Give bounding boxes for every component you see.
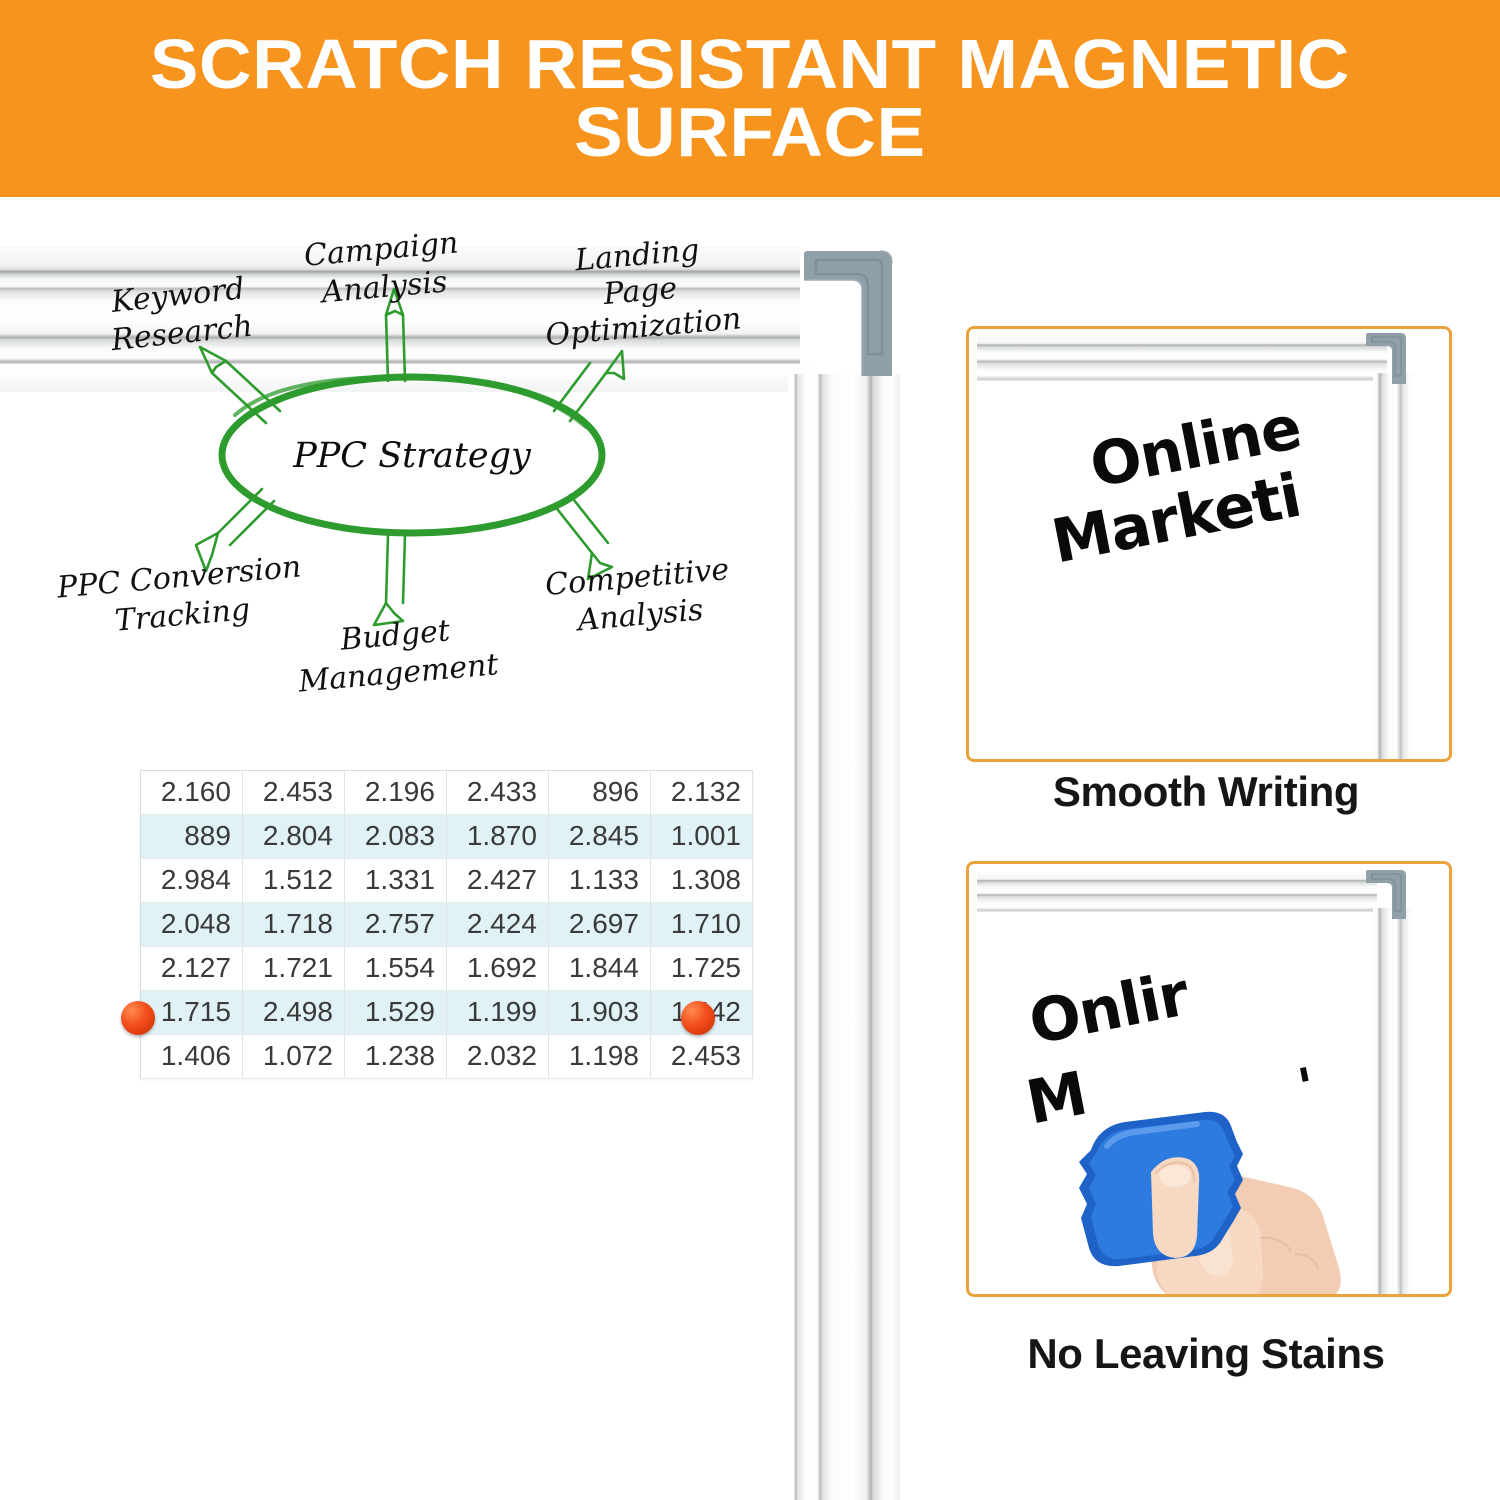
panel-top-frame-top — [977, 335, 1387, 381]
table-cell: 1.844 — [548, 947, 650, 991]
table-cell: 1.710 — [650, 903, 752, 947]
table-row: 8892.8042.0831.8702.8451.001 — [141, 815, 753, 859]
svg-text:Page: Page — [601, 271, 678, 312]
panel-top-frame-right — [1373, 373, 1415, 759]
caption-no-leaving-stains: No Leaving Stains — [966, 1330, 1446, 1378]
diagram-node-keyword-research: Keyword Research — [105, 271, 255, 359]
table-cell: 2.984 — [141, 859, 242, 903]
table-cell: 2.196 — [344, 771, 446, 815]
whiteboard-frame-right — [788, 374, 900, 1500]
data-table: 2.1602.4532.1962.4338962.1328892.8042.08… — [141, 771, 753, 1079]
table-cell: 2.032 — [446, 1035, 548, 1079]
svg-text:Management: Management — [296, 647, 501, 699]
svg-text:Optimization: Optimization — [544, 301, 743, 353]
table-row: 2.1271.7211.5541.6921.8441.725 — [141, 947, 753, 991]
header-banner: SCRATCH RESISTANT MAGNETIC SURFACE — [0, 0, 1500, 197]
table-cell: 889 — [141, 815, 242, 859]
table-cell: 1.406 — [141, 1035, 242, 1079]
caption-smooth-writing: Smooth Writing — [966, 768, 1446, 816]
panel-top-inner: Online Marketi — [969, 329, 1449, 759]
data-table-sheet: 2.1602.4532.1962.4338962.1328892.8042.08… — [140, 770, 753, 1079]
svg-text:Budget: Budget — [338, 613, 452, 658]
table-cell: 1.554 — [344, 947, 446, 991]
svg-text:Tracking: Tracking — [114, 592, 252, 639]
table-cell: 2.427 — [446, 859, 548, 903]
table-cell: 1.718 — [242, 903, 344, 947]
product-feature-image: SCRATCH RESISTANT MAGNETIC SURFACE — [0, 0, 1500, 1500]
diagram-node-campaign-analysis: Campaign Analysis — [303, 225, 463, 311]
table-cell: 2.498 — [242, 991, 344, 1035]
table-cell: 1.072 — [242, 1035, 344, 1079]
table-cell: 2.424 — [446, 903, 548, 947]
panel-top-handwriting: Online Marketi — [1085, 394, 1319, 566]
table-cell: 1.903 — [548, 991, 650, 1035]
table-cell: 2.804 — [242, 815, 344, 859]
banner-title-line2: SURFACE — [150, 99, 1350, 166]
table-cell: 1.308 — [650, 859, 752, 903]
table-cell: 1.529 — [344, 991, 446, 1035]
diagram-node-landing-page-optimization: Landing Page Optimization — [538, 230, 743, 354]
table-cell: 2.757 — [344, 903, 446, 947]
table-row: 1.7152.4981.5291.1991.9031.442 — [141, 991, 753, 1035]
data-table-body: 2.1602.4532.1962.4338962.1328892.8042.08… — [141, 771, 753, 1079]
table-cell: 1.198 — [548, 1035, 650, 1079]
table-cell: 1.870 — [446, 815, 548, 859]
table-cell: 2.127 — [141, 947, 242, 991]
diagram-node-budget-management: Budget Management — [293, 609, 501, 699]
table-cell: 1.331 — [344, 859, 446, 903]
table-cell: 1.715 — [141, 991, 242, 1035]
table-cell: 2.433 — [446, 771, 548, 815]
table-cell: 1.133 — [548, 859, 650, 903]
table-cell: 2.453 — [242, 771, 344, 815]
magnet-right-icon — [681, 1001, 715, 1035]
table-cell: 2.048 — [141, 903, 242, 947]
table-cell: 1.721 — [242, 947, 344, 991]
table-row: 2.1602.4532.1962.4338962.132 — [141, 771, 753, 815]
table-cell: 1.199 — [446, 991, 548, 1035]
table-row: 2.9841.5121.3312.4271.1331.308 — [141, 859, 753, 903]
table-cell: 2.160 — [141, 771, 242, 815]
panel-bottom-inner: Onlir M ꞌ — [969, 864, 1449, 1294]
magnet-left-icon — [121, 1001, 155, 1035]
diagram-node-competitive-analysis: Competitive Analysis — [544, 552, 734, 641]
table-cell: 2.845 — [548, 815, 650, 859]
svg-text:Analysis: Analysis — [317, 264, 448, 310]
table-cell: 1.692 — [446, 947, 548, 991]
svg-text:Analysis: Analysis — [573, 592, 704, 638]
arrow-to-budget-management — [374, 535, 405, 625]
panel-bottom-corner-bracket-icon — [1365, 870, 1407, 925]
table-cell: 1.001 — [650, 815, 752, 859]
svg-text:Competitive: Competitive — [544, 552, 731, 603]
ppc-strategy-diagram: PPC Strategy Keyword Research Campaign A… — [30, 215, 790, 705]
table-row: 1.4061.0721.2382.0321.1982.453 — [141, 1035, 753, 1079]
svg-text:Landing: Landing — [573, 233, 701, 279]
feature-panel-smooth-writing: Online Marketi — [966, 326, 1452, 762]
hand-with-eraser-illustration — [1047, 1076, 1407, 1294]
panel-bottom-frame-top — [977, 872, 1377, 912]
table-row: 2.0481.7182.7572.4242.6971.710 — [141, 903, 753, 947]
diagram-node-ppc-conversion-tracking: PPC Conversion Tracking — [55, 549, 306, 643]
table-cell: 1.238 — [344, 1035, 446, 1079]
table-cell: 1.512 — [242, 859, 344, 903]
table-cell: 2.132 — [650, 771, 752, 815]
table-cell: 2.453 — [650, 1035, 752, 1079]
feature-panel-no-leaving-stains: Onlir M ꞌ — [966, 861, 1452, 1297]
table-cell: 2.083 — [344, 815, 446, 859]
frame-corner-bracket-icon — [802, 250, 894, 378]
banner-title: SCRATCH RESISTANT MAGNETIC SURFACE — [108, 31, 1391, 165]
table-cell: 1.725 — [650, 947, 752, 991]
diagram-center-label: PPC Strategy — [292, 436, 532, 476]
table-cell: 2.697 — [548, 903, 650, 947]
panel-top-corner-bracket-icon — [1365, 333, 1407, 390]
table-cell: 896 — [548, 771, 650, 815]
banner-title-line1: SCRATCH RESISTANT MAGNETIC — [150, 31, 1350, 98]
